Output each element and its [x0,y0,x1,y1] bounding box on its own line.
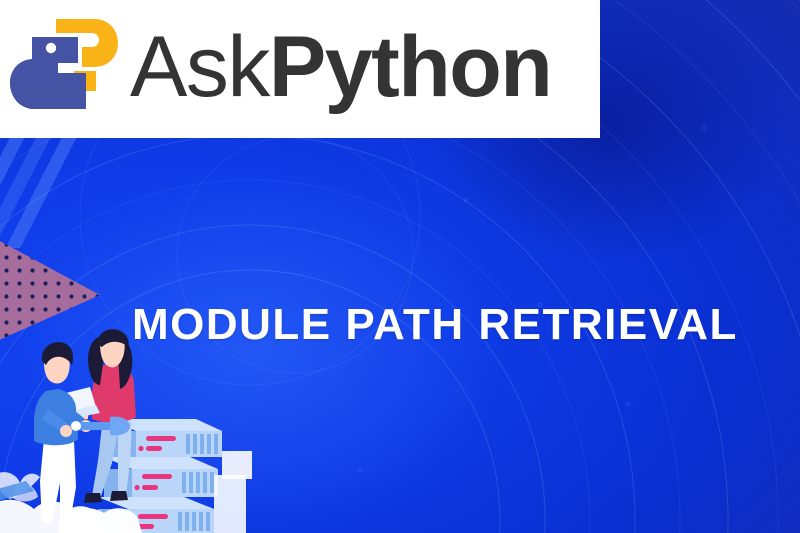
logo-text-ask: Ask [130,19,269,115]
headline-title: MODULE PATH RETRIEVAL [132,303,738,347]
logo-banner: AskPython [0,0,600,138]
askpython-article-banner: AskPython MODULE PATH RETRIEVAL [0,0,800,533]
askpython-snake-logo-icon [8,17,126,121]
askpython-wordmark: AskPython [130,24,551,110]
logo-text-python: Python [269,19,551,115]
